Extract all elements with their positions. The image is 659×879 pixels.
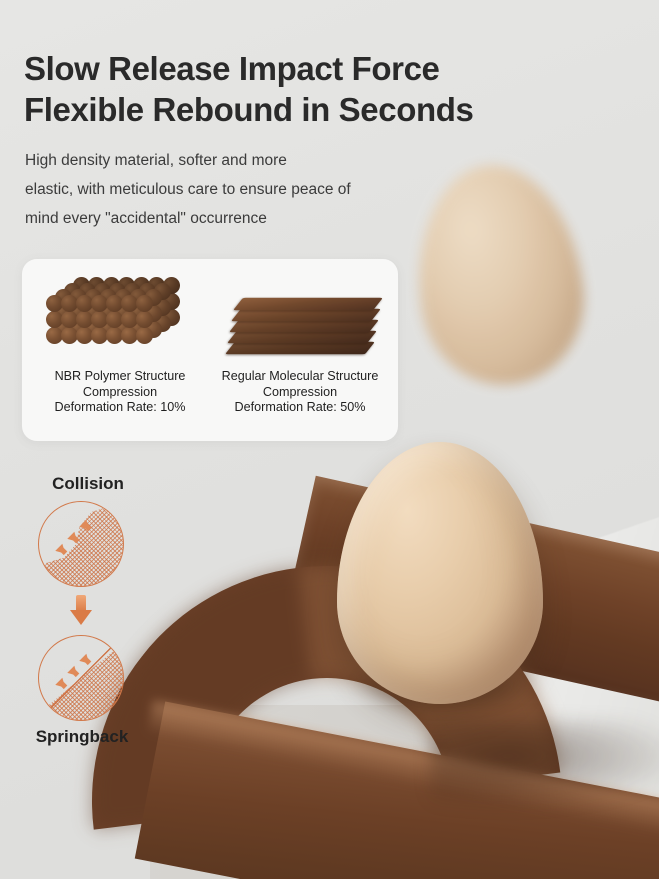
lattice-sphere <box>76 295 93 312</box>
impact-cycle-diagram: Collision <box>22 474 162 747</box>
impact-arrows-icon <box>55 520 99 564</box>
structure-plate <box>227 331 377 344</box>
lattice-sphere <box>61 295 78 312</box>
structure-comparison-card: NBR Polymer Structure Compression Deform… <box>22 259 398 441</box>
subcopy-line-3: mind every "accidental" occurrence <box>25 210 267 227</box>
structure-title: NBR Polymer Structure <box>55 369 186 385</box>
lattice-sphere <box>136 295 153 312</box>
comparison-item-regular: Regular Molecular Structure Compression … <box>210 273 390 431</box>
lattice-sphere <box>46 327 63 344</box>
lattice-sphere <box>46 295 63 312</box>
lattice-sphere <box>61 311 78 328</box>
stacked-plates-icon <box>218 273 383 365</box>
rebound-arrows-icon <box>55 654 99 698</box>
subcopy-line-2: elastic, with meticulous care to ensure … <box>25 181 351 198</box>
comparison-caption: Regular Molecular Structure Compression … <box>222 369 379 416</box>
structure-title: Regular Molecular Structure <box>222 369 379 385</box>
lattice-sphere <box>91 311 108 328</box>
lattice-sphere <box>76 327 93 344</box>
lattice-sphere <box>106 327 123 344</box>
structure-plate <box>231 309 381 322</box>
sphere-lattice-icon <box>38 273 203 365</box>
headline-line-1: Slow Release Impact Force <box>24 50 440 87</box>
structure-plate <box>233 298 383 311</box>
headline-line-2: Flexible Rebound in Seconds <box>24 91 473 128</box>
restored-circle-icon <box>38 635 124 721</box>
structure-plate <box>229 320 379 333</box>
dented-circle-icon <box>38 501 124 587</box>
comparison-item-nbr: NBR Polymer Structure Compression Deform… <box>30 273 210 431</box>
subcopy-line-1: High density material, softer and more <box>25 152 287 169</box>
lattice-sphere <box>121 295 138 312</box>
product-infographic: Slow Release Impact Force Flexible Rebou… <box>0 0 659 879</box>
springback-label: Springback <box>22 727 142 747</box>
lattice-sphere <box>46 311 63 328</box>
structure-metric-value: Deformation Rate: 10% <box>55 400 186 416</box>
collision-label: Collision <box>28 474 148 494</box>
structure-metric-label: Compression <box>222 385 379 401</box>
lattice-sphere <box>91 295 108 312</box>
resting-egg <box>337 442 543 704</box>
subheading-copy: High density material, softer and more e… <box>25 146 445 233</box>
structure-metric-value: Deformation Rate: 50% <box>222 400 379 416</box>
lattice-sphere <box>121 311 138 328</box>
down-arrow-icon <box>70 595 92 627</box>
structure-metric-label: Compression <box>55 385 186 401</box>
lattice-sphere <box>136 327 153 344</box>
lattice-sphere <box>76 311 93 328</box>
lattice-sphere <box>136 311 153 328</box>
lattice-sphere <box>106 311 123 328</box>
lattice-sphere <box>91 327 108 344</box>
lattice-sphere <box>61 327 78 344</box>
structure-plate <box>225 342 375 355</box>
brown-tube-shadow <box>430 720 659 810</box>
lattice-sphere <box>121 327 138 344</box>
lattice-sphere <box>106 295 123 312</box>
comparison-caption: NBR Polymer Structure Compression Deform… <box>55 369 186 416</box>
page-title: Slow Release Impact Force Flexible Rebou… <box>24 48 624 130</box>
